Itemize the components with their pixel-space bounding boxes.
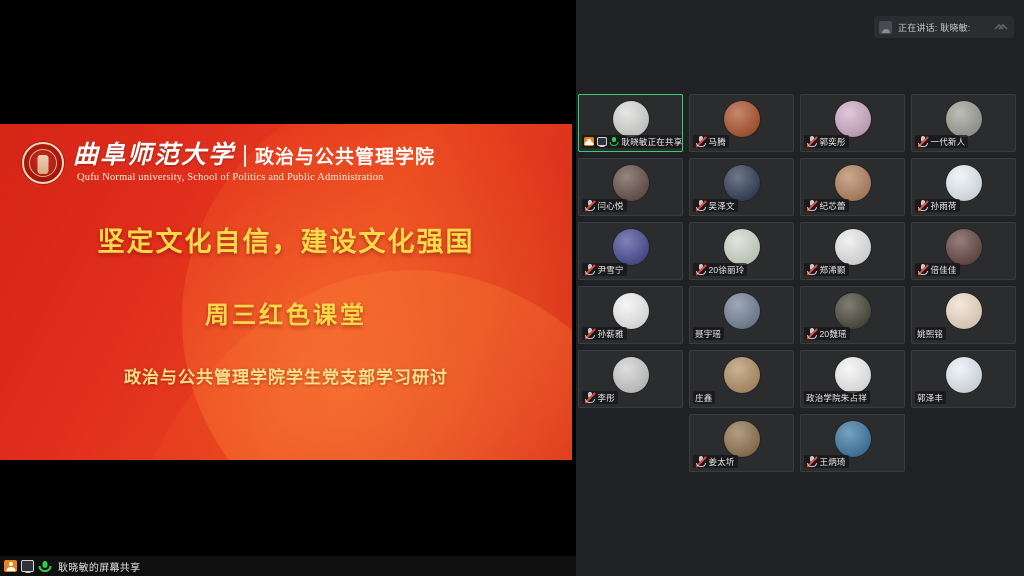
participant-tile[interactable]: 闫心悦 xyxy=(578,158,683,216)
speaker-avatar-icon xyxy=(879,21,892,34)
participant-label: 郭泽丰 xyxy=(915,391,946,404)
avatar xyxy=(724,101,760,137)
participant-label: 纪芯蕾 xyxy=(804,199,849,212)
participant-gallery: 正在讲话: 耿晓敏: 耿晓敏正在共享马腾郭奕彤一代新人闫心悦吴泽文纪芯蕾孙雨荷尹… xyxy=(576,0,1024,576)
avatar xyxy=(835,293,871,329)
microphone-muted-icon xyxy=(806,264,817,275)
avatar xyxy=(724,293,760,329)
participant-tile[interactable]: 孙雨荷 xyxy=(911,158,1016,216)
participant-name: 一代新人 xyxy=(931,136,966,148)
participant-name: 马腾 xyxy=(709,136,726,148)
participant-tile[interactable]: 耿晓敏正在共享 xyxy=(578,94,683,152)
chevron-collapse-icon[interactable] xyxy=(993,21,1009,33)
avatar xyxy=(724,357,760,393)
participant-name: 王炳琦 xyxy=(820,456,846,468)
microphone-icon xyxy=(38,560,51,572)
microphone-muted-icon xyxy=(695,200,706,211)
participant-label: 尹雪宁 xyxy=(582,263,627,276)
participant-tile[interactable]: 郭泽丰 xyxy=(911,350,1016,408)
participant-tile[interactable]: 姚熙铭 xyxy=(911,286,1016,344)
host-icon xyxy=(4,560,17,572)
slide-header: 曲阜师范大学 政治与公共管理学院 Qufu Normal university,… xyxy=(22,142,435,184)
microphone-muted-icon xyxy=(584,200,595,211)
participant-name: 聂宇瑶 xyxy=(695,328,721,340)
active-speaker-indicator[interactable]: 正在讲话: 耿晓敏: xyxy=(874,16,1014,38)
participant-name: 政治学院朱占祥 xyxy=(806,392,867,404)
avatar xyxy=(946,293,982,329)
participant-label: 一代新人 xyxy=(915,135,968,148)
participant-name: 姚熙铭 xyxy=(917,328,943,340)
university-name-cn: 曲阜师范大学 xyxy=(73,143,235,168)
avatar xyxy=(613,101,649,137)
participant-label: 政治学院朱占祥 xyxy=(804,391,870,404)
avatar xyxy=(835,165,871,201)
participant-label: 聂宇瑶 xyxy=(693,327,724,340)
participant-label: 姚熙铭 xyxy=(915,327,946,340)
screen-share-status-bar: 耿晓敏的屏幕共享 xyxy=(0,556,576,576)
host-icon xyxy=(584,137,594,146)
participant-name: 孙雨荷 xyxy=(931,200,957,212)
participant-name: 闫心悦 xyxy=(598,200,624,212)
microphone-muted-icon xyxy=(806,200,817,211)
participant-row: 姜太圻王炳琦 xyxy=(578,414,1022,472)
avatar xyxy=(946,229,982,265)
microphone-muted-icon xyxy=(806,136,817,147)
participant-label: 孙薪雅 xyxy=(582,327,627,340)
participant-row: 尹雪宁20徐丽玲郑浠颢倍佳佳 xyxy=(578,222,1022,280)
screen-share-status-text: 耿晓敏的屏幕共享 xyxy=(58,559,140,574)
participant-label: 吴泽文 xyxy=(693,199,738,212)
participant-name: 20徐丽玲 xyxy=(709,264,745,276)
slide-subtitle: 周三红色课堂 xyxy=(0,295,572,330)
participant-label: 倍佳佳 xyxy=(915,263,960,276)
participant-label: 姜太圻 xyxy=(693,455,738,468)
participant-name: 庄鑫 xyxy=(695,392,712,404)
participant-label: 马腾 xyxy=(693,135,729,148)
participant-tile[interactable]: 郭奕彤 xyxy=(800,94,905,152)
participant-tile[interactable]: 孙薪雅 xyxy=(578,286,683,344)
microphone-muted-icon xyxy=(584,264,595,275)
microphone-muted-icon xyxy=(917,136,928,147)
participant-name: 孙薪雅 xyxy=(598,328,624,340)
participant-tile[interactable]: 李彤 xyxy=(578,350,683,408)
participant-label: 孙雨荷 xyxy=(915,199,960,212)
zoom-meeting-window: 曲阜师范大学 政治与公共管理学院 Qufu Normal university,… xyxy=(0,0,1024,576)
participant-grid: 耿晓敏正在共享马腾郭奕彤一代新人闫心悦吴泽文纪芯蕾孙雨荷尹雪宁20徐丽玲郑浠颢倍… xyxy=(578,94,1022,478)
slide-title: 坚定文化自信，建设文化强国 xyxy=(0,220,572,259)
participant-label: 庄鑫 xyxy=(693,391,715,404)
participant-label: 郑浠颢 xyxy=(804,263,849,276)
microphone-muted-icon xyxy=(917,264,928,275)
participant-tile[interactable]: 吴泽文 xyxy=(689,158,794,216)
active-speaker-text: 正在讲话: 耿晓敏: xyxy=(898,21,971,34)
participant-tile[interactable]: 王炳琦 xyxy=(800,414,905,472)
participant-tile[interactable]: 姜太圻 xyxy=(689,414,794,472)
avatar xyxy=(724,229,760,265)
avatar xyxy=(835,357,871,393)
participant-label: 20徐丽玲 xyxy=(693,263,747,276)
participant-name: 纪芯蕾 xyxy=(820,200,846,212)
participant-name: 郭泽丰 xyxy=(917,392,943,404)
participant-name: 姜太圻 xyxy=(709,456,735,468)
microphone-muted-icon xyxy=(695,456,706,467)
avatar xyxy=(613,229,649,265)
participant-tile[interactable]: 尹雪宁 xyxy=(578,222,683,280)
participant-row: 李彤庄鑫政治学院朱占祥郭泽丰 xyxy=(578,350,1022,408)
participant-name: 吴泽文 xyxy=(709,200,735,212)
participant-tile[interactable]: 倍佳佳 xyxy=(911,222,1016,280)
microphone-muted-icon xyxy=(806,328,817,339)
microphone-muted-icon xyxy=(695,136,706,147)
avatar xyxy=(835,229,871,265)
participant-label: 李彤 xyxy=(582,391,618,404)
avatar xyxy=(946,101,982,137)
participant-tile[interactable]: 郑浠颢 xyxy=(800,222,905,280)
participant-label: 郭奕彤 xyxy=(804,135,849,148)
university-name-en: Qufu Normal university, School of Politi… xyxy=(77,172,435,183)
participant-name: 倍佳佳 xyxy=(931,264,957,276)
microphone-muted-icon xyxy=(584,392,595,403)
participant-name: 尹雪宁 xyxy=(598,264,624,276)
slide-footer: 政治与公共管理学院学生党支部学习研讨 xyxy=(0,363,572,388)
participant-tile[interactable]: 马腾 xyxy=(689,94,794,152)
university-crest-icon xyxy=(22,142,64,184)
avatar xyxy=(835,101,871,137)
header-divider xyxy=(244,145,246,167)
avatar xyxy=(613,357,649,393)
participant-label: 闫心悦 xyxy=(582,199,627,212)
participant-tile[interactable]: 政治学院朱占祥 xyxy=(800,350,905,408)
participant-name: 郑浠颢 xyxy=(820,264,846,276)
avatar xyxy=(946,357,982,393)
avatar xyxy=(946,165,982,201)
grid-spacer xyxy=(578,414,683,472)
participant-tile[interactable]: 20魏瑶 xyxy=(800,286,905,344)
participant-tile[interactable]: 纪芯蕾 xyxy=(800,158,905,216)
shared-screen-pane[interactable]: 曲阜师范大学 政治与公共管理学院 Qufu Normal university,… xyxy=(0,0,576,576)
participant-tile[interactable]: 庄鑫 xyxy=(689,350,794,408)
participant-label: 耿晓敏正在共享 xyxy=(582,135,682,148)
microphone-muted-icon xyxy=(584,328,595,339)
avatar xyxy=(613,165,649,201)
avatar xyxy=(613,293,649,329)
participant-tile[interactable]: 20徐丽玲 xyxy=(689,222,794,280)
microphone-muted-icon xyxy=(917,200,928,211)
participant-name: 郭奕彤 xyxy=(820,136,846,148)
participant-label: 20魏瑶 xyxy=(804,327,850,340)
participant-name: 李彤 xyxy=(598,392,615,404)
avatar xyxy=(724,421,760,457)
participant-row: 耿晓敏正在共享马腾郭奕彤一代新人 xyxy=(578,94,1022,152)
microphone-muted-icon xyxy=(695,264,706,275)
microphone-muted-icon xyxy=(806,456,817,467)
avatar xyxy=(724,165,760,201)
participant-tile[interactable]: 一代新人 xyxy=(911,94,1016,152)
participant-name: 20魏瑶 xyxy=(820,328,847,340)
participant-label: 王炳琦 xyxy=(804,455,849,468)
avatar xyxy=(835,421,871,457)
microphone-icon xyxy=(609,137,619,146)
participant-tile[interactable]: 聂宇瑶 xyxy=(689,286,794,344)
participant-row: 闫心悦吴泽文纪芯蕾孙雨荷 xyxy=(578,158,1022,216)
slide-body: 坚定文化自信，建设文化强国 周三红色课堂 政治与公共管理学院学生党支部学习研讨 xyxy=(0,220,572,388)
department-name-cn: 政治与公共管理学院 xyxy=(255,148,435,168)
grid-spacer xyxy=(911,414,1016,472)
screen-share-icon xyxy=(21,560,34,572)
participant-name: 耿晓敏正在共享 xyxy=(622,136,683,148)
presentation-slide: 曲阜师范大学 政治与公共管理学院 Qufu Normal university,… xyxy=(0,124,572,460)
screen-share-icon xyxy=(597,137,607,146)
participant-row: 孙薪雅聂宇瑶20魏瑶姚熙铭 xyxy=(578,286,1022,344)
